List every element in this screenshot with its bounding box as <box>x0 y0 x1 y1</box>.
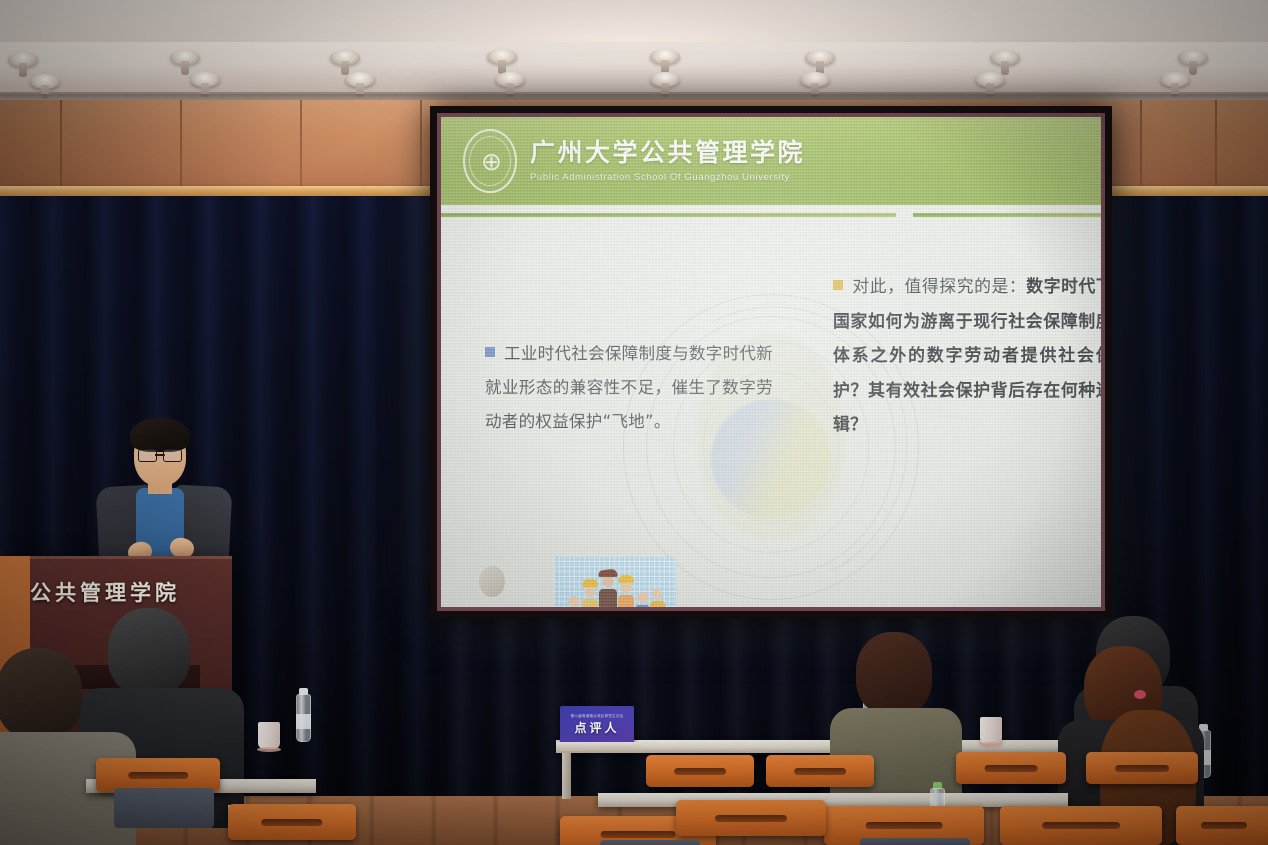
downlight <box>800 72 830 87</box>
slide-title-en: Public Administration School Of Guangzho… <box>530 172 805 183</box>
slide-title-cn: 广州大学公共管理学院 <box>530 139 805 167</box>
paper-cup <box>980 717 1002 744</box>
downlight <box>975 72 1005 87</box>
slide-corner-oval <box>479 566 505 597</box>
seat-cushion <box>600 840 700 845</box>
bullet-square-gold <box>833 280 843 290</box>
seat-cushion <box>860 838 970 845</box>
table-row <box>598 793 1068 807</box>
logo-glyph: ⊕ <box>481 149 499 174</box>
downlight <box>650 49 680 64</box>
downlight <box>650 72 680 87</box>
projection-screen: ⊕ 广州大学公共管理学院 Public Administration Schoo… <box>430 106 1112 618</box>
auditorium-seat <box>646 755 754 787</box>
left-text-block: 工业时代社会保障制度与数字时代新就业形态的兼容性不足，催生了数字劳动者的权益保护… <box>485 337 773 438</box>
name-card-commentator: 第六届粤港澳大湾区研究生论坛 点评人 <box>560 706 634 744</box>
paper-cup <box>258 722 280 749</box>
name-card-title: 点评人 <box>574 719 619 736</box>
downlight <box>330 50 360 65</box>
downlight <box>8 52 38 67</box>
university-logo-icon: ⊕ <box>463 129 517 193</box>
downlight <box>1160 72 1190 87</box>
podium-label: 公共管理学院 <box>30 577 220 607</box>
downlight <box>495 72 525 87</box>
speaker-presenter <box>92 424 232 574</box>
ceiling-beam <box>0 42 1268 94</box>
auditorium-seat <box>96 758 220 792</box>
auditorium-seat <box>1176 806 1268 845</box>
auditorium-seat <box>676 800 826 836</box>
auditorium-seat <box>766 755 874 787</box>
bullet-square-blue <box>485 347 495 357</box>
auditorium-seat <box>228 804 356 840</box>
eyeglasses-icon <box>138 449 182 460</box>
right-paragraph-text: 数字时代下国家如何为游离于现行社会保障制度体系之外的数字劳动者提供社会保护？其有… <box>833 276 1101 434</box>
header-divider <box>441 213 1101 217</box>
digital-workers-illustration <box>554 557 676 607</box>
downlight <box>487 49 517 64</box>
downlight <box>170 50 200 65</box>
auditorium-seat <box>1086 752 1198 784</box>
right-lead-text: 对此，值得探究的是： <box>852 276 1026 296</box>
downlight <box>345 72 375 87</box>
downlight <box>190 72 220 87</box>
downlight <box>805 50 835 65</box>
downlight <box>990 50 1020 65</box>
auditorium-seat <box>956 752 1066 784</box>
presentation-slide: ⊕ 广州大学公共管理学院 Public Administration Schoo… <box>441 117 1101 607</box>
lecture-hall-scene: ⊕ 广州大学公共管理学院 Public Administration Schoo… <box>0 0 1268 845</box>
left-paragraph-text: 工业时代社会保障制度与数字时代新就业形态的兼容性不足，催生了数字劳动者的权益保护… <box>485 344 773 431</box>
downlight <box>30 74 60 89</box>
downlight <box>1178 50 1208 65</box>
right-text-block: 对此，值得探究的是：数字时代下国家如何为游离于现行社会保障制度体系之外的数字劳动… <box>833 269 1101 442</box>
auditorium-seat <box>1000 806 1162 845</box>
slide-header: ⊕ 广州大学公共管理学院 Public Administration Schoo… <box>441 117 1101 205</box>
seat-cushion <box>114 788 214 828</box>
